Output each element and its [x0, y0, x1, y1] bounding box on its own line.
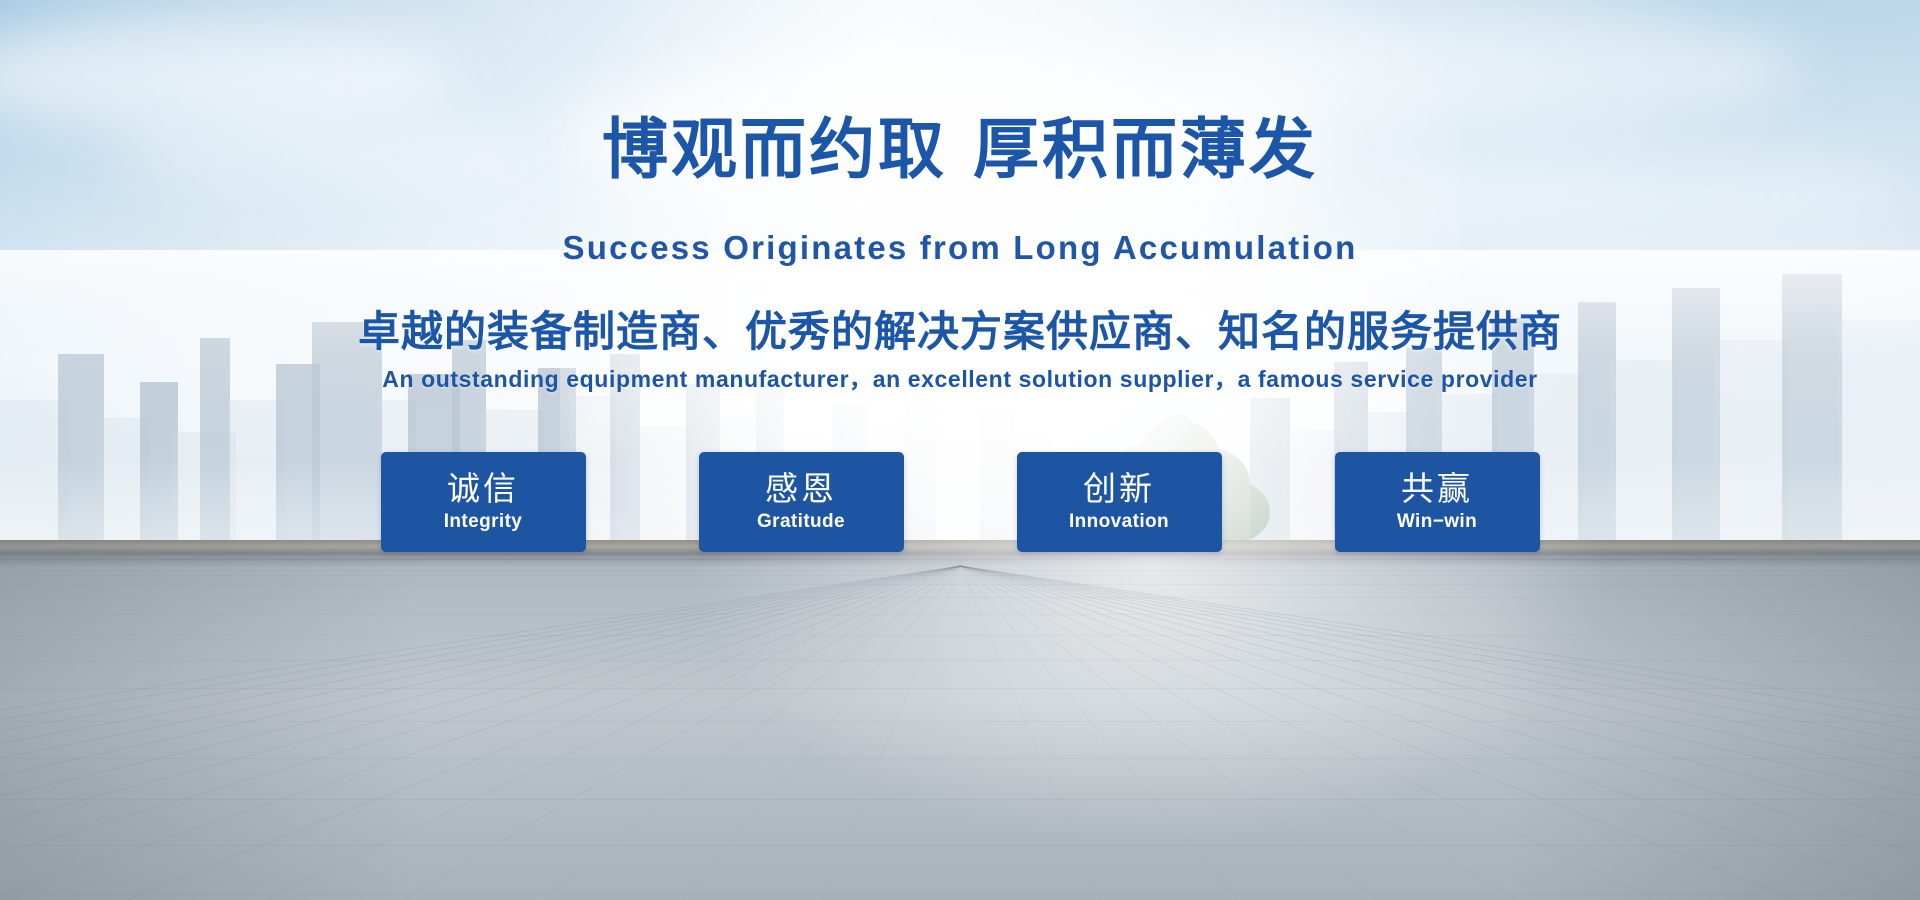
- pavement-joint-perspective: [960, 566, 1426, 900]
- pavement-vignette: [0, 540, 1920, 900]
- pavement-joint-perspective: [0, 566, 961, 900]
- pavement-joint-perspective: [960, 566, 1920, 900]
- pavement-joint-perspective: [960, 566, 1920, 900]
- pavement-joint-perspective: [960, 566, 1920, 900]
- pavement-joint-horizontal: [0, 584, 1920, 585]
- pavement-joint-perspective: [960, 566, 1920, 900]
- pavement-joint-perspective: [960, 566, 1119, 900]
- pavement-joint-perspective: [647, 566, 961, 900]
- pavement-joint-perspective: [960, 566, 1920, 900]
- core-values-list: 诚信 Integrity 感恩 Gratitude 创新 Innovation …: [0, 452, 1920, 552]
- pavement-joint-perspective: [0, 566, 961, 900]
- pavement-joint-perspective: [0, 566, 961, 900]
- pavement-joint-horizontal: [0, 688, 1920, 689]
- pavement-joint-horizontal: [0, 575, 1920, 576]
- pavement-plaza: [0, 540, 1920, 900]
- pavement-joint-perspective: [0, 566, 961, 900]
- value-label-cn: 创新: [1083, 470, 1155, 508]
- pavement-joint-perspective: [960, 566, 1728, 900]
- pavement-joint-perspective: [960, 566, 1578, 900]
- pavement-joint-perspective: [960, 566, 1920, 900]
- pavement-joint-perspective: [0, 566, 961, 900]
- pavement-joint-perspective: [495, 566, 961, 900]
- value-box-integrity[interactable]: 诚信 Integrity: [381, 452, 586, 552]
- value-box-innovation[interactable]: 创新 Innovation: [1017, 452, 1222, 552]
- value-label-en: Integrity: [444, 510, 523, 534]
- value-label-en: Gratitude: [757, 510, 845, 534]
- pavement-joint-horizontal: [0, 721, 1920, 722]
- pavement-joint-perspective: [0, 566, 961, 900]
- pavement-joint-horizontal: [0, 799, 1920, 800]
- value-label-cn: 诚信: [447, 470, 519, 508]
- pavement-joint-perspective: [0, 566, 961, 900]
- value-label-en: Win−win: [1397, 510, 1477, 534]
- pavement-joint-perspective: [0, 566, 961, 900]
- value-label-cn: 感恩: [765, 470, 837, 508]
- value-box-gratitude[interactable]: 感恩 Gratitude: [699, 452, 904, 552]
- pavement-joint-horizontal: [0, 845, 1920, 846]
- pavement-joint-perspective: [192, 566, 960, 900]
- pavement-joint-horizontal: [0, 570, 1920, 571]
- pavement-joint-perspective: [960, 566, 1920, 900]
- pavement-joint-perspective: [0, 566, 961, 900]
- pavement-joint-horizontal: [0, 660, 1920, 661]
- value-box-winwin[interactable]: 共赢 Win−win: [1335, 452, 1540, 552]
- pavement-joint-perspective: [802, 566, 961, 900]
- pavement-joint-horizontal: [0, 635, 1920, 636]
- pavement-joint-horizontal: [0, 597, 1920, 598]
- pavement-joint-perspective: [960, 566, 1274, 900]
- pavement-joint-horizontal: [0, 614, 1920, 615]
- pavement-joint-perspective: [960, 566, 1920, 900]
- pavement-joint-horizontal: [0, 894, 1920, 895]
- pavement-joint-perspective: [343, 566, 961, 900]
- value-label-en: Innovation: [1069, 510, 1169, 534]
- pavement-joint-perspective: [960, 566, 1920, 900]
- pavement-joint-perspective: [960, 566, 1920, 900]
- pavement-joint-perspective: [42, 566, 961, 900]
- corporate-culture-banner: 博观而约取厚积而薄发 Success Originates from Long …: [0, 0, 1920, 900]
- pavement-joint-perspective: [960, 566, 1879, 900]
- pavement-joint-horizontal: [0, 758, 1920, 759]
- curb-shadow: [0, 558, 1920, 568]
- value-label-cn: 共赢: [1401, 470, 1473, 508]
- pavement-light-glow: [700, 540, 1600, 840]
- pavement-joint-perspective: [0, 566, 961, 900]
